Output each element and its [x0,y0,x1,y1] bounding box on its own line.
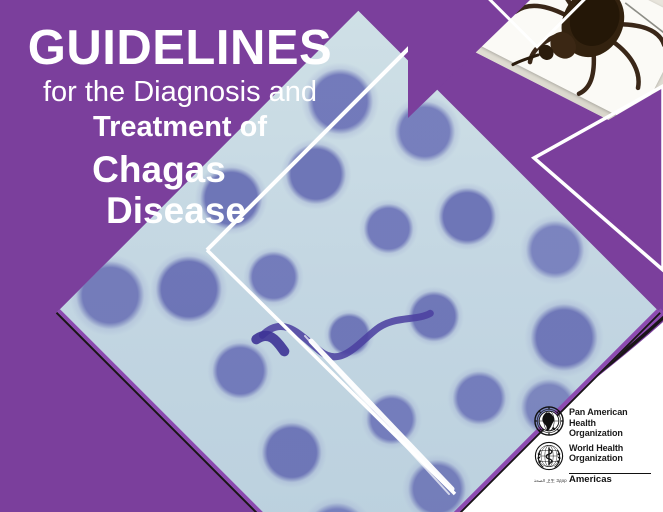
who-line-1: World Health [569,443,623,454]
who-logo: World Health Organization [534,441,654,471]
title-guidelines: GUIDELINES [0,24,360,74]
cover-title-block: GUIDELINES for the Diagnosis and Treatme… [0,24,360,232]
publication-cover: GUIDELINES for the Diagnosis and Treatme… [0,0,663,512]
paho-line-2: Health [569,418,628,429]
paho-logo: Pan American Health Organization [534,406,654,439]
who-logo-text: World Health Organization [569,441,623,464]
regional-office-label: الصحة 卫生 Здоровье Americas [534,475,654,485]
who-line-2: Organization [569,453,623,464]
paho-globe-icon [534,406,564,436]
paho-line-3: Organization [569,428,628,439]
title-subtitle-diagnosis: for the Diagnosis and [0,76,360,108]
paho-logo-text: Pan American Health Organization [569,406,628,439]
title-disease: Disease [0,190,360,231]
paho-line-1: Pan American [569,407,628,418]
who-rod-of-asclepius-icon [534,441,564,471]
multilingual-scripts-text: الصحة 卫生 Здоровье [534,479,567,485]
title-chagas: Chagas [0,149,360,190]
organization-logos: Pan American Health Organization [534,406,654,484]
americas-label: Americas [569,475,612,485]
title-subtitle-treatment: Treatment of [0,110,360,144]
